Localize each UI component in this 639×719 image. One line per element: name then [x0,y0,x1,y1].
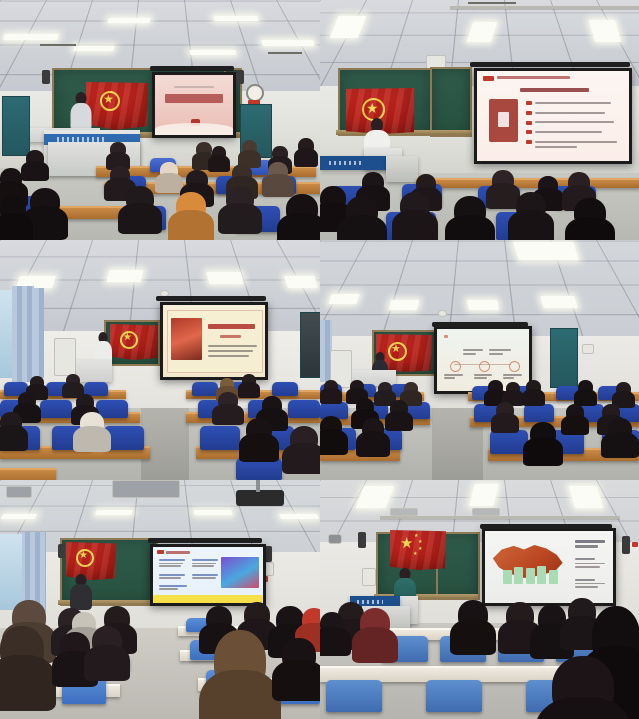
screen-roller [156,296,266,301]
auditorium-seat [524,404,554,422]
slide-heading [208,324,255,329]
auditorium-seat [288,400,320,418]
slide-heading [575,545,598,548]
ceiling-projector [236,490,284,506]
student-desk [0,468,56,480]
slide-text-block [159,574,185,576]
collage-panel-1[interactable]: ★ [0,0,320,240]
slide-title [155,75,233,135]
wall-speaker [42,70,50,84]
teal-door [300,312,320,378]
ceiling-vent [112,480,180,498]
audience-head [272,146,288,161]
ceiling-light [261,40,314,46]
audience-head [186,170,208,190]
audience-head [592,606,639,668]
slide-text-block [192,559,218,561]
flag-star-icon: ★ [366,101,379,115]
prc-national-flag: ★ ★ ★ ★ ★ [390,530,446,570]
audience-head [578,380,593,394]
slide-text-block [159,563,183,565]
audience-head [526,380,541,394]
presenter [70,92,92,132]
audience-head [568,598,596,626]
slide-subheading [174,86,215,88]
flag-emblem: ★ [388,342,407,361]
communist-youth-league-flag: ★ [86,82,148,130]
audience-head [80,412,104,434]
blue-curtain [34,288,44,378]
slide-text-block [192,563,216,565]
audience-head [244,602,270,628]
communist-youth-league-flag: ★ [110,324,158,360]
presenter [70,574,92,608]
collage-panel-4[interactable]: ★ [320,240,639,480]
audience-head [566,404,584,421]
smoke-detector [438,310,447,317]
flag-emblem: ★ [100,91,120,111]
projection-screen [474,68,632,164]
ceiling-duct [390,508,418,516]
audience-head [268,162,288,181]
flag-small-star-icon: ★ [418,547,422,552]
slide-connector [454,364,511,365]
ceiling-light [328,294,360,304]
slide-top-label [463,353,476,355]
ceiling-light [107,18,150,23]
auditorium-seat [326,680,382,712]
audience-head [492,170,514,191]
audience-head [506,382,520,395]
audience-head [552,656,614,719]
slide-photo [171,318,202,360]
slide-bar [549,570,558,584]
slide-bullet-marker [526,121,532,125]
slide-bullet-text [535,141,617,143]
projection-screen [482,528,616,606]
slide-section-text [575,563,606,565]
collage-panel-5[interactable]: ★ [0,480,320,719]
audience-head [320,416,342,437]
slide-two-column-content [153,547,263,603]
audience-head [196,142,212,157]
audience-head [530,422,556,446]
slide-node-circle [509,361,520,372]
slide-bottom-label [503,374,521,376]
presenter-body [71,103,92,131]
auditorium-seat [200,426,240,450]
slide-bullet-text [535,102,611,104]
ceiling-light [389,300,419,310]
ceiling-fan [268,52,302,54]
slide-text-block [192,574,218,576]
presenter-body [70,584,92,610]
slide-text-block [159,588,179,590]
audience-head [390,400,408,417]
wall-speaker [358,532,366,548]
slide-bullet-marker [526,130,532,134]
white-cabinet [54,338,76,376]
slide-text-block [159,577,181,579]
screen-roller [480,524,612,529]
audience-head [126,186,154,212]
projector-mount [256,480,260,492]
podium-banner-panel [320,156,386,170]
ceiling-duct [472,508,500,516]
audience-head [232,164,252,183]
slide-bullet-list [477,71,629,161]
audience-head [574,198,606,228]
slide-bullet-marker [526,140,532,144]
slide-text-block [159,559,185,561]
screen-roller [432,322,528,327]
audience-head [110,166,130,185]
screen-roller [470,62,630,67]
teal-door [550,328,578,388]
slide-top-label [489,349,511,351]
audience-head [458,600,488,630]
flag-small-star-icon: ★ [414,534,418,539]
slide-bottom-label [444,374,462,376]
audience-head [160,162,178,179]
flag-small-star-icon: ★ [418,540,422,545]
audience-head [0,412,22,433]
photo-collage: ★ [0,0,639,719]
audience-head [176,192,206,220]
audience-head [226,186,254,212]
teal-door [2,96,30,156]
slide-footer-band [153,595,263,603]
audience-head [0,168,22,189]
ceiling-light [73,46,114,51]
slide-body-text [208,345,257,347]
slide-heading [165,94,223,103]
ceiling-light [95,510,132,515]
ceiling-light [213,16,258,21]
slide-header-text [166,551,190,554]
slide-bullet-text [535,121,614,123]
audience-head [362,172,384,193]
wall-notice [582,344,594,354]
audience-head [246,418,272,442]
slide-header-dot [444,335,448,338]
slide-bullet-text [535,146,578,148]
slide-photo [221,557,258,588]
audience-head [496,402,514,419]
flag-star-icon: ★ [103,93,114,105]
audience-head [616,382,631,396]
audience-head [18,392,36,409]
podium-banner [320,159,386,167]
ceiling-light [3,34,59,40]
slide-bullet-text [535,112,605,114]
cabinet [386,156,418,182]
slide-bullet-marker [526,111,532,115]
audience-head [242,374,256,387]
audience-head [76,394,94,411]
audience-head [608,418,632,440]
slide-node-circle [479,361,490,372]
audience-head [350,380,364,393]
slide-header-text [497,76,570,79]
ceiling-light [467,300,499,310]
slide-top-label [489,353,504,355]
ceiling-light [284,276,318,288]
slide-header-tag [483,76,494,81]
slide-text-block [159,585,188,587]
chalkboard [430,67,472,137]
flag-star-icon: ★ [391,344,401,355]
slide-section-title [575,579,595,581]
audience-head [290,426,318,452]
wall-speaker [622,536,630,554]
slide-heading [575,540,606,543]
projection-screen [160,302,268,380]
audience-head [298,138,314,154]
auditorium-seat [40,400,72,418]
ceiling-fan [40,44,76,46]
collage-panel-2[interactable]: ★ [320,0,639,240]
projection-screen [150,544,266,606]
ceiling-pipe [450,6,639,9]
exit-sign [632,542,638,547]
ceiling-light [279,514,319,519]
projection-screen [152,72,236,138]
audience-head [324,380,338,393]
slide-section-title [575,558,595,560]
audience-head [30,188,60,216]
slide-heading [520,88,590,92]
audience-head [0,196,26,222]
slide-side-card-label [498,112,509,126]
wall-speaker [58,544,65,558]
audience-head [416,174,436,194]
centre-aisle [141,408,189,480]
slide-bar [526,568,535,584]
audience-head [218,392,238,410]
wall-speaker [236,70,244,84]
audience-head [110,142,126,157]
audience-head [206,606,232,632]
ceiling-light [1,514,37,519]
slide-section-text [575,586,598,588]
flag-emblem: ★ [120,331,138,349]
audience-head [454,196,486,226]
audience-head [360,608,390,638]
collage-panel-3[interactable]: ★ [0,240,320,480]
audience-head [242,140,257,155]
blue-curtain [12,286,34,382]
auditorium-seat [192,382,218,396]
audience-head [282,638,316,672]
audience-head [286,194,318,224]
wall-notice [362,568,376,586]
screen-roller [150,66,234,71]
slide-text-block [192,565,214,567]
slide-bottom-label [444,377,455,379]
audience-head [320,612,344,636]
audience-head [356,398,374,415]
audience-head [26,150,44,167]
audience-head [92,626,122,656]
audience-head [378,382,392,395]
ceiling-pipe [380,516,620,519]
ceiling-light [189,50,236,55]
ceiling-light [569,486,603,508]
slide-text-block [159,565,181,567]
ceiling-light [107,270,144,282]
audience-head [66,374,80,387]
audience-head [212,146,226,160]
flag-star-icon: ★ [123,333,132,343]
audience-head [302,608,320,632]
slide-text-block [192,577,216,579]
cctv-camera [328,534,342,544]
slide-node-circle [450,361,461,372]
slide-bottom-label [474,374,492,376]
slide-section-text [575,566,601,568]
slide-map-chart [485,531,613,603]
ceiling-light [207,272,244,284]
flag-star-icon: ★ [79,551,88,561]
flag-small-star-icon: ★ [413,552,417,557]
ceiling-mount [6,486,32,498]
audience-head [516,192,546,220]
slide-bar [514,567,523,584]
slide-photo-title [163,305,265,377]
flag-emblem: ★ [76,549,94,567]
slide-bar [503,570,512,584]
slide-header-tag [157,550,164,554]
screen-roller [148,538,262,543]
audience-head [346,196,378,226]
auditorium-seat [272,382,298,396]
audience-head [362,418,384,439]
audience-head [220,378,234,391]
audience-head [506,602,534,630]
audience-head [320,186,346,211]
ceiling-light [193,510,232,515]
slide-top-label [463,349,483,351]
audience-head [568,172,590,193]
ceiling-light [513,242,579,260]
audience-head [262,396,282,415]
window [0,534,22,610]
audience-head [538,176,558,195]
collage-panel-6[interactable]: ★ ★ ★ ★ ★ [320,480,639,719]
audience-head [0,626,44,672]
auditorium-seat [426,680,482,712]
slide-bullet-marker [526,101,532,105]
slide-bar [537,566,546,585]
audience-head [30,376,44,389]
slide-decoration [155,123,233,135]
audience-head [400,192,430,220]
audience-head [404,382,418,395]
slide-section-text [575,583,606,585]
slide-bottom-label [503,377,514,379]
slide-subheading [220,335,240,338]
ceiling-fan [468,2,516,4]
ceiling-light [540,296,577,308]
slide-bullet-text [535,131,602,133]
audience-head [214,630,266,692]
slide-bottom-label [474,377,487,379]
audience-head [488,380,503,394]
flag-large-star-icon: ★ [400,536,413,551]
student-desk [416,178,639,188]
